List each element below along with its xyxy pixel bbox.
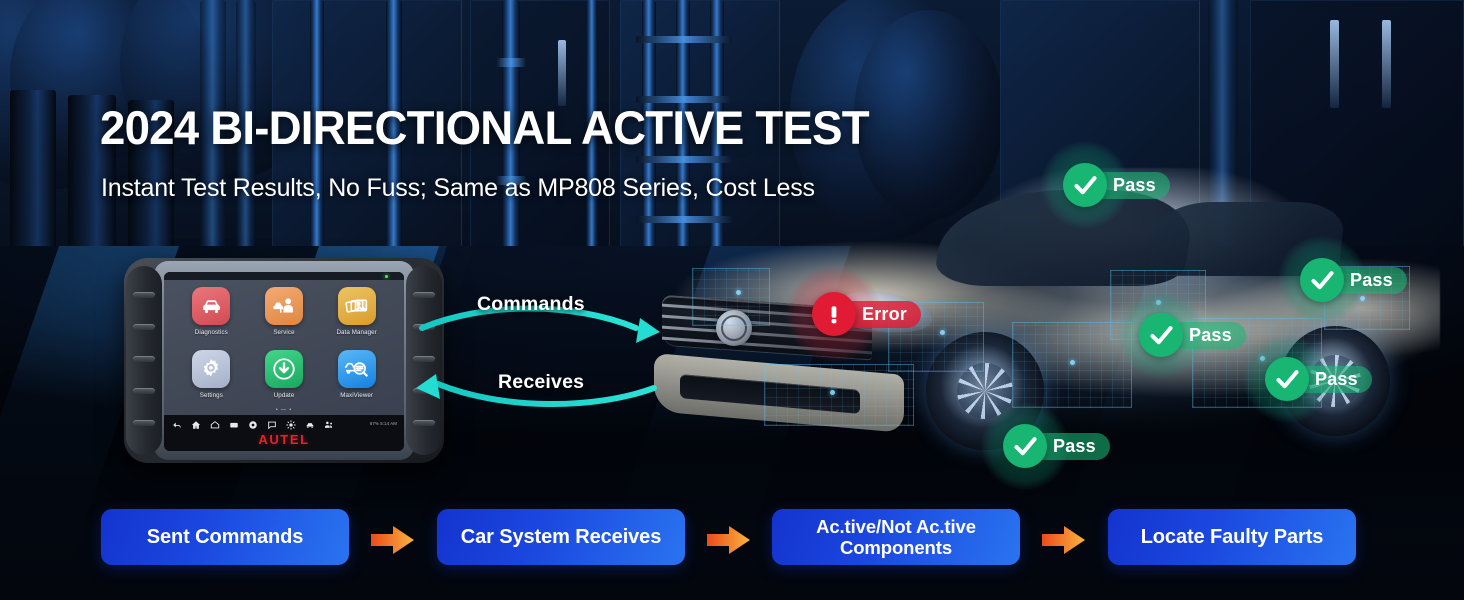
car-icon	[192, 287, 230, 325]
commands-arrow-head	[636, 318, 660, 343]
status-badge-pass: Pass	[1003, 424, 1047, 468]
status-badge-pass: Pass	[1063, 163, 1107, 207]
app-label: Settings	[200, 392, 223, 399]
autel-brand-logo: AUTEL	[164, 432, 404, 447]
commands-label: Commands	[477, 293, 585, 316]
xray-overlay	[764, 364, 914, 426]
home-icon[interactable]	[191, 420, 201, 430]
step-button-label: Ac.tive/Not Ac.tive Components	[816, 516, 976, 559]
app-diagnostics[interactable]: Diagnostics	[176, 287, 247, 350]
chat-icon[interactable]	[267, 420, 277, 430]
vehicle-icon[interactable]	[305, 420, 315, 430]
pipe-ring	[496, 58, 526, 67]
app-update[interactable]: Update	[249, 350, 320, 413]
status-badge-pass: Pass	[1265, 357, 1309, 401]
app-label: Data Manager	[336, 329, 376, 336]
brightness-icon[interactable]	[286, 420, 296, 430]
app-service[interactable]: Service	[249, 287, 320, 350]
process-step-flow: Sent Commands Car System Receives Ac.tiv…	[0, 490, 1464, 600]
technician-icon	[265, 287, 303, 325]
check-icon	[1003, 424, 1047, 468]
autel-tablet-device: Diagnostics Service	[124, 258, 444, 463]
app-settings[interactable]: Settings	[176, 350, 247, 413]
page-subtitle: Instant Test Results, No Fuss; Same as M…	[101, 174, 815, 203]
app-data-manager[interactable]: Data Manager	[321, 287, 392, 350]
step-button-car-system-receives[interactable]: Car System Receives	[437, 509, 685, 565]
car-search-icon	[338, 350, 376, 388]
check-icon	[1265, 357, 1309, 401]
step-button-active-not-active-components[interactable]: Ac.tive/Not Ac.tive Components	[772, 509, 1020, 565]
tablet-screen[interactable]: Diagnostics Service	[164, 272, 404, 451]
app-label: Update	[274, 392, 295, 399]
download-icon	[265, 350, 303, 388]
tablet-status-bar	[164, 272, 404, 280]
exclamation-icon	[812, 292, 856, 336]
light-strip	[1330, 20, 1339, 108]
receives-arrow-head	[416, 374, 440, 399]
step-arrow-3-icon	[1042, 525, 1086, 555]
xray-overlay	[692, 268, 770, 326]
record-icon[interactable]	[248, 420, 258, 430]
promo-banner: 2024 BI-DIRECTIONAL ACTIVE TEST Instant …	[0, 0, 1464, 600]
app-label: Diagnostics	[195, 329, 228, 336]
status-badge-pass: Pass	[1139, 313, 1183, 357]
house-icon[interactable]	[210, 420, 220, 430]
screenshot-icon[interactable]	[229, 420, 239, 430]
light-strip	[1382, 20, 1391, 108]
step-button-locate-faulty-parts[interactable]: Locate Faulty Parts	[1108, 509, 1356, 565]
people-icon[interactable]	[324, 420, 334, 430]
step-button-sent-commands[interactable]: Sent Commands	[101, 509, 349, 565]
check-icon	[1300, 258, 1344, 302]
tablet-left-grip	[126, 266, 162, 455]
app-label: MaxiViewer	[340, 392, 373, 399]
check-icon	[1063, 163, 1107, 207]
step-arrow-1-icon	[371, 525, 415, 555]
pipe-ring	[636, 36, 732, 43]
app-maxiviewer[interactable]: MaxiViewer	[321, 350, 392, 413]
tablet-status-text: 67% 5:14 AM	[370, 421, 397, 426]
tablet-app-grid: Diagnostics Service	[164, 280, 404, 415]
status-badge-error: Error	[812, 292, 856, 336]
receives-label: Receives	[498, 371, 584, 394]
gear-icon	[192, 350, 230, 388]
status-led-icon	[385, 275, 388, 278]
step-arrow-2-icon	[707, 525, 751, 555]
light-strip	[558, 40, 566, 106]
photos-icon	[338, 287, 376, 325]
status-badge-pass: Pass	[1300, 258, 1344, 302]
page-indicator: • — •	[164, 407, 404, 413]
check-icon	[1139, 313, 1183, 357]
page-title: 2024 BI-DIRECTIONAL ACTIVE TEST	[100, 104, 869, 151]
back-icon[interactable]	[172, 420, 182, 430]
app-label: Service	[273, 329, 294, 336]
